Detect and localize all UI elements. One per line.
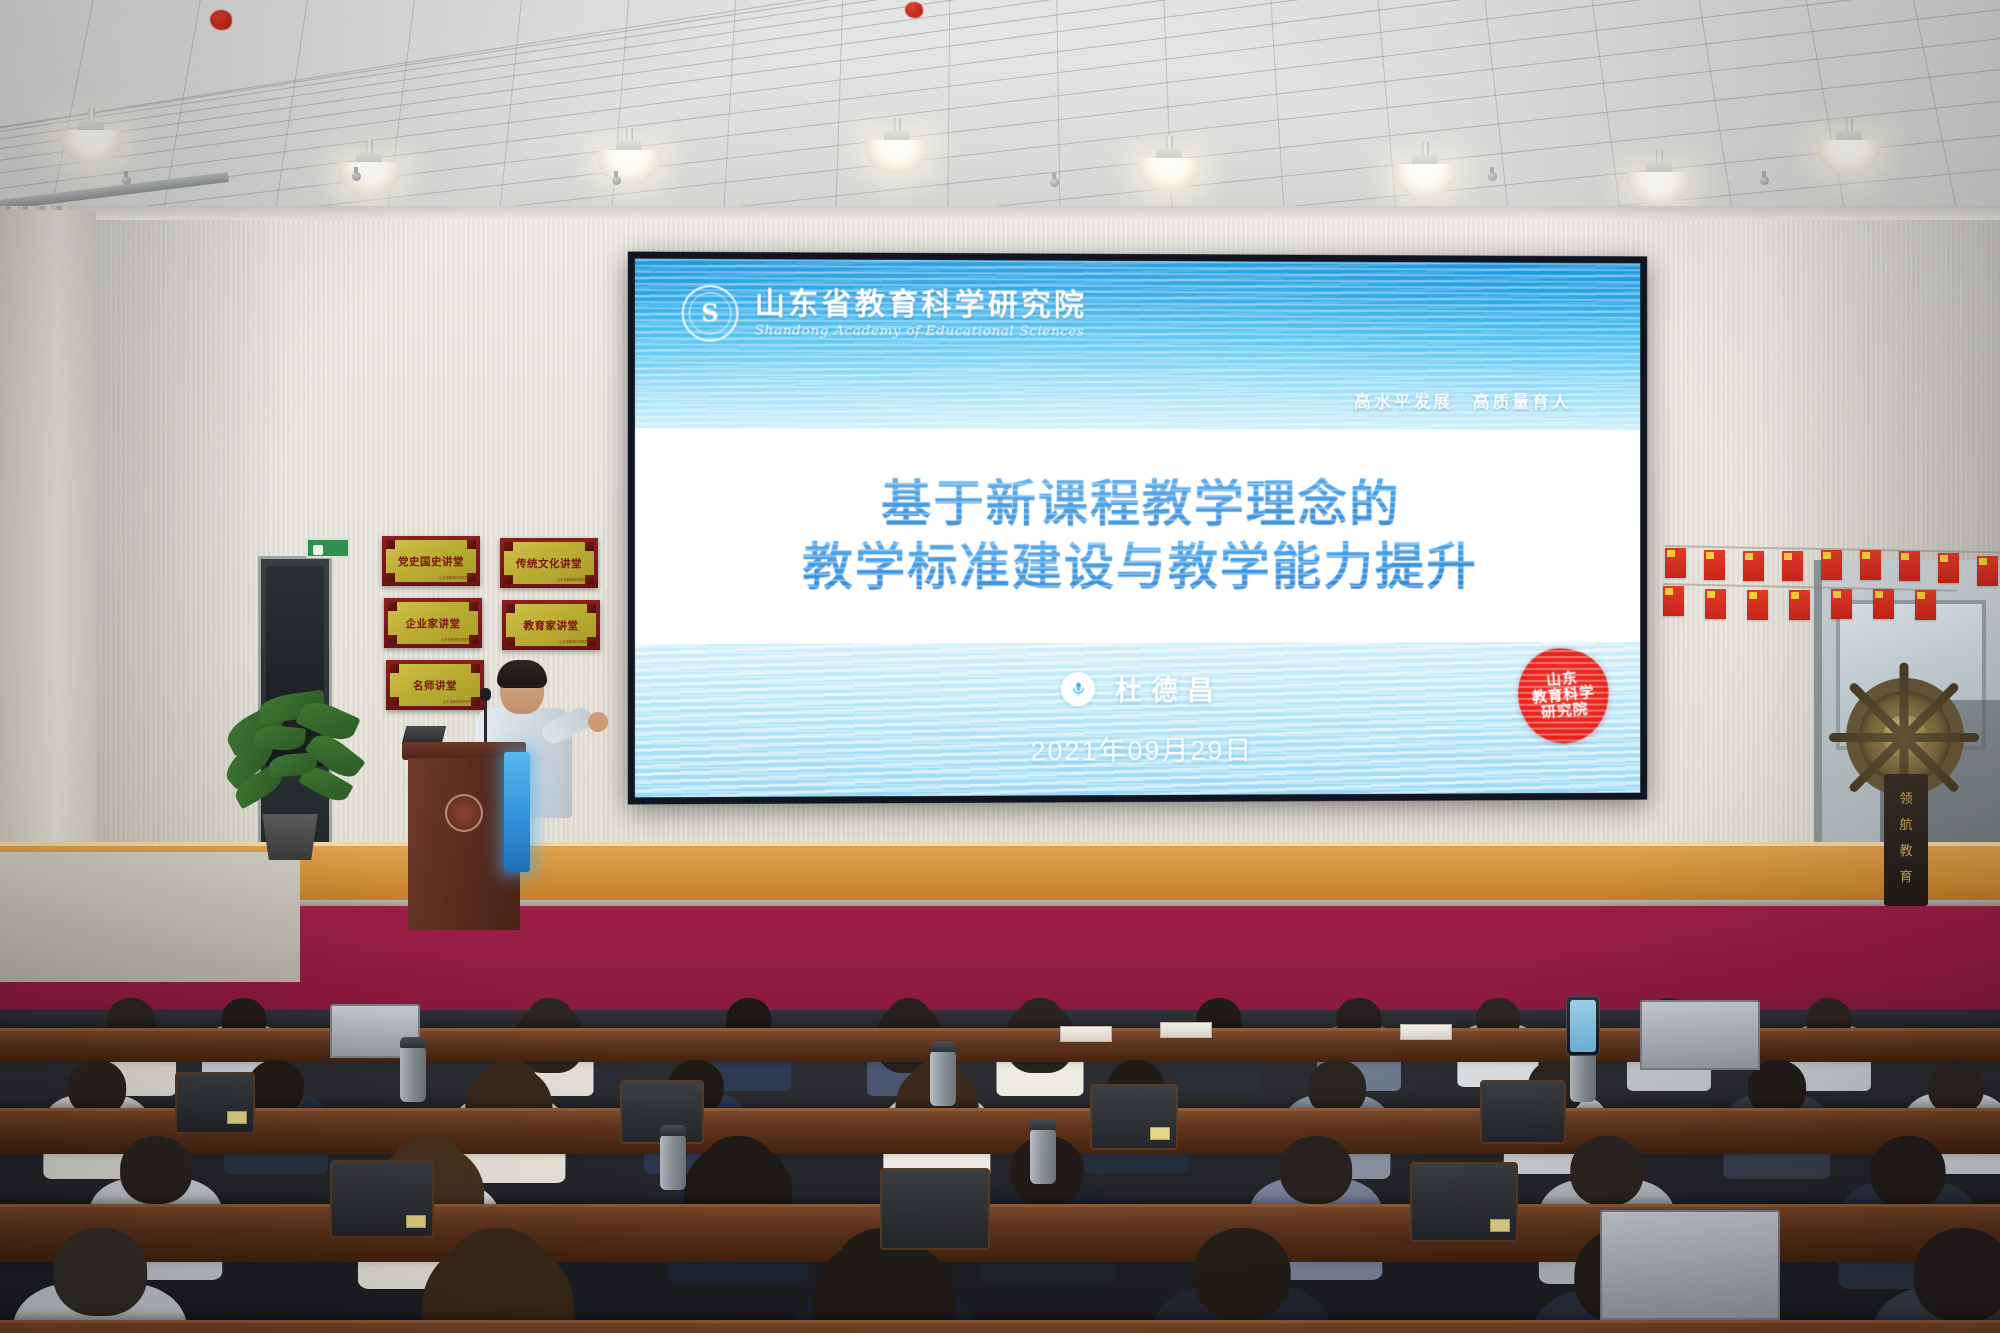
ceiling-grid-line (0, 0, 6, 232)
chair-seat-tag (1150, 1127, 1170, 1140)
thermos-bottle (930, 1050, 956, 1106)
flag-star (1940, 555, 1948, 562)
flag-star (1979, 558, 1987, 565)
chinese-flag-icon (1860, 550, 1881, 580)
microphone-icon (1061, 672, 1095, 706)
lectern-microphone-head (480, 688, 491, 701)
thermos-bottle (1030, 1128, 1056, 1184)
academy-name-block: 山东省教育科学研究院 Shandong Academy of Education… (755, 288, 1087, 340)
chinese-flag-icon (1704, 550, 1725, 580)
ornament-plinth: 领 航 教 育 (1884, 774, 1928, 906)
desk-nameplate (1160, 1022, 1212, 1038)
slide-header-band: S 山东省教育科学研究院 Shandong Academy of Educati… (635, 259, 1640, 371)
chinese-flag-icon (1977, 556, 1998, 586)
wall-plaque: 教育家讲堂山东省教育科学研究院 (502, 600, 600, 650)
ceiling-grid-line (1265, 0, 1292, 232)
ships-wheel-ornament: 领 航 教 育 (1830, 678, 1980, 908)
plaque-face: 企业家讲堂山东省教育科学研究院 (388, 602, 478, 644)
audience-head (1280, 1136, 1352, 1204)
ceiling-grid-line (831, 0, 846, 232)
presenter-hand (588, 712, 608, 732)
wall-plaque: 企业家讲堂山东省教育科学研究院 (384, 598, 482, 648)
flag-star (1706, 552, 1714, 559)
flag-star (1917, 592, 1925, 599)
plaque-corner (587, 604, 596, 613)
ceiling-grid-line (602, 0, 636, 232)
lectern-microphone-stand (484, 696, 487, 748)
lecture-hall-photo: 党史国史讲堂山东省教育科学研究院传统文化讲堂山东省教育科学研究院企业家讲堂山东省… (0, 0, 2000, 1333)
chair-back (175, 1072, 255, 1134)
logo-mark: S (701, 301, 719, 325)
audience-desk (0, 1320, 2000, 1333)
ceiling-grid-line (0, 0, 2000, 182)
plant-pot (257, 814, 323, 860)
chair-back (880, 1168, 990, 1250)
ceiling-grid-line (487, 0, 531, 232)
audience-member (1900, 1228, 2000, 1333)
audience-member (40, 1228, 160, 1333)
potted-green-plant (215, 690, 365, 860)
plaque-face: 名师讲堂山东省教育科学研究院 (390, 664, 480, 706)
ceiling-grid-line (1895, 0, 1981, 232)
presenter-hair (497, 660, 547, 688)
wall-column-left (0, 210, 96, 910)
flag-star (1823, 552, 1831, 559)
ceiling-grid-line (1475, 0, 1522, 232)
ceiling-grid-line (1580, 0, 1637, 232)
footer-wave-texture (635, 642, 1640, 797)
plinth-char: 教 (1899, 840, 1912, 859)
flag-star (1862, 552, 1870, 559)
chinese-flag-icon (1782, 551, 1803, 581)
plinth-char: 育 (1899, 866, 1912, 885)
plaque-label: 企业家讲堂 (406, 616, 461, 631)
flag-star (1749, 592, 1757, 599)
audience-head (1914, 1228, 2000, 1322)
sprinkler-head (1760, 176, 1769, 185)
plaque-label: 传统文化讲堂 (516, 556, 582, 571)
academy-name-en: Shandong Academy of Educational Sciences (755, 323, 1087, 340)
chinese-flag-icon (1665, 548, 1686, 578)
ceiling-tile-grid (0, 0, 2000, 232)
audience-head (120, 1136, 192, 1204)
plaque-subtext: 山东省教育科学研究院 (439, 575, 471, 580)
audience-head (445, 1228, 551, 1328)
thermos-cap (660, 1125, 686, 1136)
chinese-flag-icon (1899, 551, 1920, 581)
ceiling-grid-line (0, 0, 2000, 167)
academy-name-cn: 山东省教育科学研究院 (755, 288, 1087, 321)
chinese-flag-icon (1873, 589, 1894, 619)
red-ceiling-marker (905, 2, 923, 18)
chair-back (1480, 1080, 1566, 1144)
chair-seat-tag (1490, 1219, 1510, 1232)
ceiling-grid-line (0, 0, 2000, 164)
audience-head (53, 1228, 147, 1316)
sprinkler-head (1050, 178, 1059, 187)
plaque-corner (504, 575, 513, 584)
plaque-corner (388, 602, 397, 611)
slide-tagline-band: 高水平发展 高质量育人 (635, 368, 1640, 430)
slide-title-line-2: 教学标准建设与教学能力提升 (802, 536, 1478, 599)
audience-member (430, 1228, 566, 1333)
slide-title-area: 基于新课程教学理念的 教学标准建设与教学能力提升 (635, 428, 1640, 644)
sprinkler-head (612, 176, 621, 185)
chair-seat-tag (406, 1215, 426, 1228)
plaque-label: 教育家讲堂 (524, 618, 579, 633)
ceiling-grid-line (1160, 0, 1177, 232)
exit-sign (306, 538, 350, 558)
flag-star (1667, 550, 1675, 557)
wall-plaque: 党史国史讲堂山东省教育科学研究院 (382, 536, 480, 586)
ceiling (0, 0, 2000, 232)
chinese-flag-icon (1915, 590, 1936, 620)
mobile-phone[interactable] (1566, 996, 1600, 1056)
lectern (408, 742, 520, 930)
plaque-subtext: 山东省教育科学研究院 (557, 577, 589, 582)
flag-star (1745, 553, 1753, 560)
sprinkler-head (1488, 172, 1497, 181)
desk-nameplate (1060, 1026, 1112, 1042)
audience-head (248, 1060, 304, 1114)
flag-star (1784, 553, 1792, 560)
laptop[interactable] (1640, 1000, 1760, 1070)
plaque-label: 党史国史讲堂 (398, 554, 464, 569)
chair-back (1410, 1162, 1518, 1242)
audience-seating-area (0, 1010, 2000, 1333)
chinese-flag-icon (1789, 590, 1810, 620)
flag-star (1791, 592, 1799, 599)
plant-leaf (254, 723, 306, 752)
chinese-flag-icon (1938, 553, 1959, 583)
ceiling-grid-line (0, 0, 2000, 164)
audience-member (1180, 1228, 1304, 1333)
phone-screen (1570, 1000, 1596, 1052)
chinese-flag-icon (1743, 551, 1764, 581)
plaque-corner (504, 542, 513, 551)
chair-back (330, 1160, 434, 1238)
thermos-bottle (660, 1134, 686, 1190)
seal-line-3: 研究院 (1541, 701, 1589, 721)
plaque-subtext: 山东省教育科学研究院 (559, 639, 591, 644)
lectern-accent-light (504, 752, 530, 872)
ceiling-grid-line (1055, 0, 1062, 232)
plinth-char: 航 (1899, 814, 1912, 833)
plaque-corner (469, 602, 478, 611)
wall-plaque: 传统文化讲堂山东省教育科学研究院 (500, 538, 598, 588)
plaque-corner (390, 697, 399, 706)
academy-emblem (445, 794, 483, 832)
audience-head (1871, 1136, 1946, 1208)
chinese-flag-icon (1705, 589, 1726, 619)
plaque-corner (388, 635, 397, 644)
laptop[interactable] (1600, 1210, 1780, 1320)
sprinkler-head (352, 172, 361, 181)
audience-head (701, 1136, 776, 1206)
plaque-corner (506, 604, 515, 613)
chinese-flag-icon (1663, 586, 1684, 616)
slide-tagline: 高水平发展 高质量育人 (1354, 387, 1571, 412)
chinese-flag-icon (1821, 550, 1842, 580)
flag-star (1875, 591, 1883, 598)
red-ceiling-marker (210, 10, 232, 30)
slide-footer-band: 杜德昌 2021年09月29日 山东 教育科学 研究院 (635, 642, 1640, 797)
plaque-corner (386, 540, 395, 549)
flag-star (1707, 591, 1715, 598)
slide-title-line-1: 基于新课程教学理念的 (881, 473, 1401, 536)
desk-nameplate (1400, 1024, 1452, 1040)
plaque-subtext: 山东省教育科学研究院 (441, 637, 473, 642)
slide-date: 2021年09月29日 (635, 727, 1640, 770)
stage-left-panel (0, 852, 300, 982)
plaque-corner (506, 637, 515, 646)
plinth-char: 领 (1899, 788, 1912, 807)
audience-head (1928, 1060, 1984, 1114)
presenter-row: 杜德昌 (635, 668, 1640, 710)
plaque-corner (390, 664, 399, 673)
plaque-corner (585, 542, 594, 551)
presenter-name: 杜德昌 (1115, 669, 1223, 708)
flag-star (1833, 591, 1841, 598)
thermos-cap (400, 1037, 426, 1048)
audience-head (1570, 1136, 1643, 1206)
academy-logo-icon: S (682, 285, 739, 342)
plaque-corner (386, 573, 395, 582)
ceiling-grid-line (716, 0, 741, 232)
ceiling-grid-line (946, 0, 951, 232)
flag-star (1665, 588, 1673, 595)
thermos-cap (1030, 1119, 1056, 1130)
presenter-glasses (502, 685, 542, 693)
plaque-label: 名师讲堂 (413, 678, 457, 693)
plaque-face: 传统文化讲堂山东省教育科学研究院 (504, 542, 594, 584)
chair-back (1090, 1084, 1178, 1150)
presentation-slide: S 山东省教育科学研究院 Shandong Academy of Educati… (635, 259, 1640, 798)
plaque-face: 党史国史讲堂山东省教育科学研究院 (386, 540, 476, 582)
audience-head (1194, 1228, 1291, 1320)
plaque-corner (467, 540, 476, 549)
chinese-flag-icon (1831, 589, 1852, 619)
plaque-face: 教育家讲堂山东省教育科学研究院 (506, 604, 596, 646)
projection-screen-frame: S 山东省教育科学研究院 Shandong Academy of Educati… (628, 252, 1647, 805)
flag-star (1901, 553, 1909, 560)
wall-cornice (0, 206, 2000, 220)
thermos-cap (930, 1041, 956, 1052)
thermos-bottle (400, 1046, 426, 1102)
chair-seat-tag (227, 1111, 247, 1124)
chinese-flag-icon (1747, 590, 1768, 620)
